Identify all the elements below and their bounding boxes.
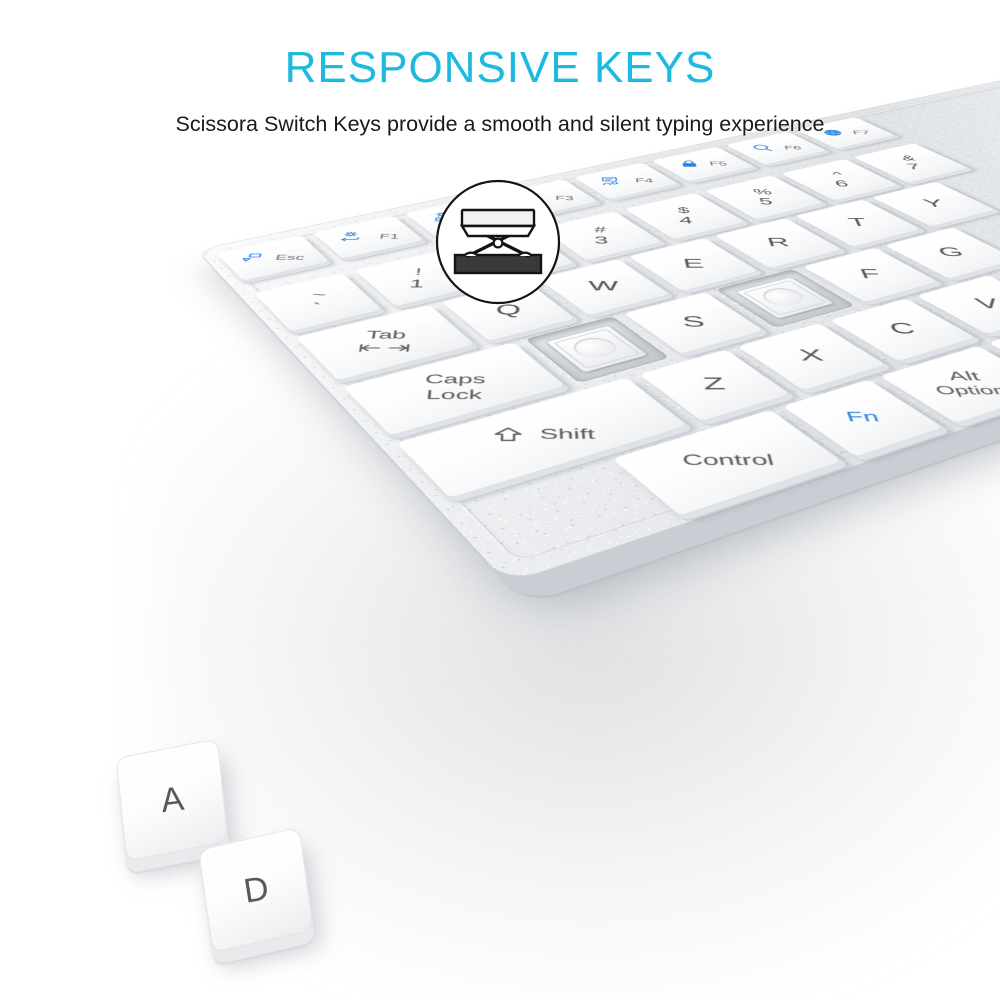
key-f-label: F [858, 267, 883, 281]
header: RESPONSIVE KEYS Scissora Switch Keys pro… [0, 0, 1000, 170]
key-caps-lock[interactable]: CapsLock [343, 342, 567, 436]
key-1-label: !1 [409, 267, 427, 290]
key-w-label: W [588, 279, 619, 293]
key-z[interactable]: Z [638, 350, 791, 422]
key-backtick-label: ~` [307, 289, 327, 314]
empty-socket-a [525, 316, 669, 383]
key-command[interactable]: Command [988, 302, 1000, 386]
key-3-label: #3 [593, 225, 609, 246]
key-alt-option[interactable]: AltOption [880, 346, 1000, 424]
key-s-label: S [681, 314, 706, 330]
key-v-label: V [972, 296, 1000, 311]
key-r-label: R [765, 236, 791, 249]
key-shift-label: Shift [492, 427, 596, 443]
tab-arrows-icon [357, 342, 411, 354]
key-y-label: Y [921, 198, 947, 209]
key-shift[interactable]: Shift [396, 378, 689, 499]
key-t-label: T [846, 217, 869, 229]
screen-shot-icon [239, 253, 265, 262]
scissor-switch-mechanism [545, 325, 649, 373]
brightness-down-icon [337, 232, 369, 242]
key-c[interactable]: C [829, 298, 976, 361]
loose-keycap-a-label: A [158, 779, 185, 820]
scissor-switch-icon [434, 178, 562, 306]
key-e-label: E [681, 257, 705, 270]
key-z-label: Z [701, 375, 727, 393]
key-esc-label: Esc [239, 253, 305, 262]
key-tab[interactable]: Tab [295, 305, 476, 381]
shift-arrow-icon [492, 427, 525, 443]
loose-keycap-d-label: D [241, 869, 271, 911]
key-s[interactable]: S [623, 292, 765, 354]
key-tab-label: Tab [357, 329, 413, 354]
key-alt-option-label: AltOption [927, 370, 1000, 397]
key-backtick[interactable]: ~` [253, 273, 383, 332]
key-g[interactable]: G [884, 227, 1000, 279]
key-f4-label: F4 [599, 176, 655, 185]
key-esc[interactable]: Esc [216, 235, 331, 281]
key-x[interactable]: X [737, 323, 887, 391]
key-c-label: C [887, 321, 919, 337]
key-caps-lock-label: CapsLock [423, 373, 486, 402]
key-f1[interactable]: F1 [313, 216, 426, 260]
scissor-switch-mechanism [735, 277, 835, 319]
loose-keycap-a: A [115, 738, 228, 862]
media-icon [599, 176, 626, 185]
key-f1-label: F1 [337, 232, 400, 242]
page-title: RESPONSIVE KEYS [0, 46, 1000, 90]
key-5-label: %5 [752, 188, 777, 206]
key-v[interactable]: V [916, 275, 1000, 335]
key-4-label: $4 [676, 206, 694, 226]
key-control-label: Control [681, 452, 776, 468]
page-subtitle: Scissora Switch Keys provide a smooth an… [0, 112, 1000, 137]
key-x-label: X [797, 347, 826, 364]
key-fn-label: Fn [845, 410, 882, 424]
key-6-label: ^6 [829, 171, 850, 189]
key-g-label: G [935, 246, 966, 259]
key-f[interactable]: F [802, 248, 939, 303]
scissor-switch-badge [434, 178, 562, 306]
empty-socket-d [716, 269, 855, 328]
